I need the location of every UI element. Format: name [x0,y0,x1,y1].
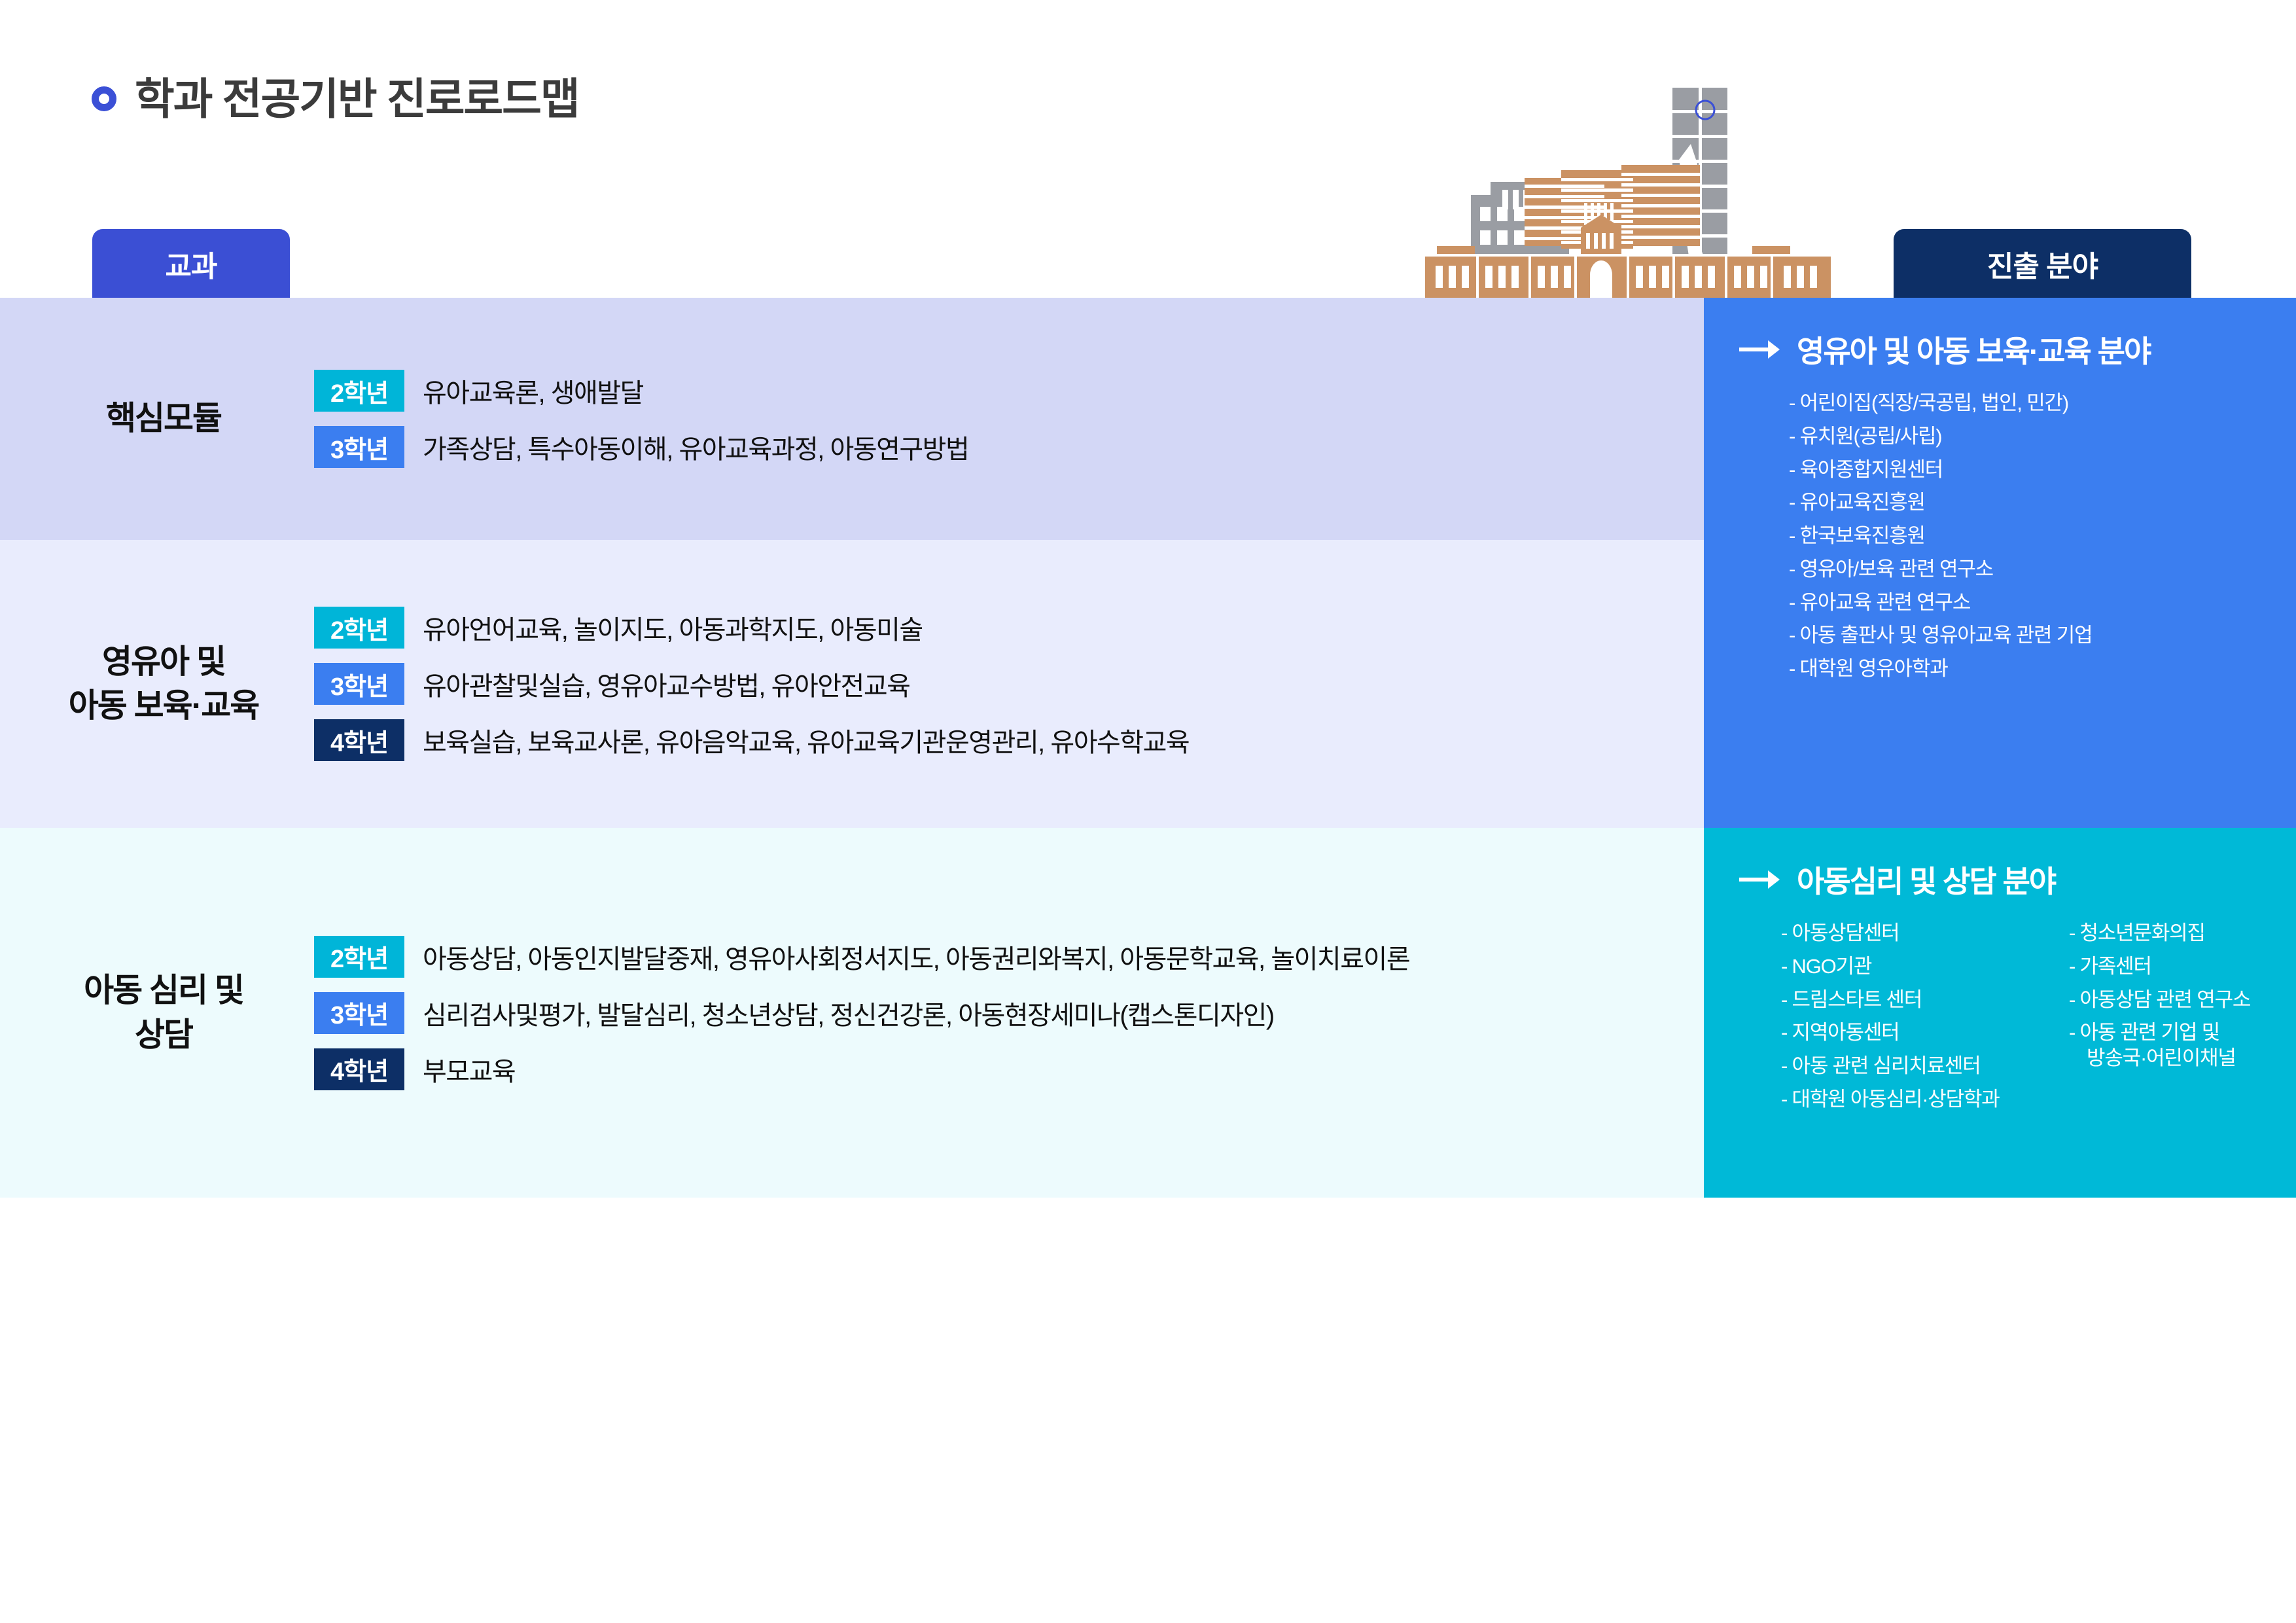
career-item: - 유아교육 관련 연구소 [1789,590,2296,616]
year-badge[interactable]: 2학년 [314,936,404,978]
curriculum-row: 영유아 및 아동 보육·교육 2학년 유아언어교육, 놀이지도, 아동과학지도,… [0,540,1701,828]
year-badge[interactable]: 3학년 [314,663,404,705]
course-line: 3학년 유아관찰및실습, 영유아교수방법, 유아안전교육 [314,663,1701,705]
row-label: 영유아 및 아동 보육·교육 [13,640,314,728]
career-panel-title: 아동심리 및 상담 분야 [1797,858,2055,901]
row-label-line: 아동 보육·교육 [13,684,314,728]
course-text: 아동상담, 아동인지발달중재, 영유아사회정서지도, 아동권리와복지, 아동문학… [423,938,1409,976]
course-line: 3학년 가족상담, 특수아동이해, 유아교육과정, 아동연구방법 [314,426,1701,468]
tab-curriculum-label: 교과 [166,243,217,285]
course-line: 2학년 아동상담, 아동인지발달중재, 영유아사회정서지도, 아동권리와복지, … [314,936,1701,978]
row-label-line: 아동 심리 및 [13,969,314,1013]
course-line-list: 2학년 유아교육론, 생애발달 3학년 가족상담, 특수아동이해, 유아교육과정… [314,370,1701,468]
career-item: - 육아종합지원센터 [1789,457,2296,483]
course-text: 심리검사및평가, 발달심리, 청소년상담, 정신건강론, 아동현장세미나(캡스톤… [423,994,1274,1032]
arrow-right-icon [1739,338,1780,361]
curriculum-row: 핵심모듈 2학년 유아교육론, 생애발달 3학년 가족상담, 특수아동이해, 유… [0,298,1701,540]
campus-skyline-illustration [1425,79,1831,308]
career-item: - 아동 관련 기업 및 방송국·어린이채널 [2069,1020,2250,1071]
tab-career[interactable]: 진출 분야 [1894,229,2191,298]
course-text: 가족상담, 특수아동이해, 유아교육과정, 아동연구방법 [423,428,968,466]
row-label-line: 영유아 및 [13,640,314,685]
course-line-list: 2학년 유아언어교육, 놀이지도, 아동과학지도, 아동미술 3학년 유아관찰및… [314,607,1701,761]
career-item: - 아동 관련 심리치료센터 [1781,1054,2069,1079]
career-item: - 유아교육진흥원 [1789,490,2296,516]
year-badge[interactable]: 3학년 [314,992,404,1034]
year-badge[interactable]: 2학년 [314,370,404,412]
career-panel-childcare-education: 영유아 및 아동 보육·교육 분야 - 어린이집(직장/국공립, 법인, 민간)… [1704,298,2296,828]
career-panel-child-psychology-counseling: 아동심리 및 상담 분야 - 아동상담센터 - NGO기관 - 드림스타트 센터… [1704,828,2296,1198]
career-panel-title: 영유아 및 아동 보육·교육 분야 [1797,328,2150,371]
course-text: 유아관찰및실습, 영유아교수방법, 유아안전교육 [423,665,910,703]
roadmap-page: 학과 전공기반 진로로드맵 [0,0,2296,1623]
career-item: - 청소년문화의집 [2069,921,2250,946]
course-text: 유아교육론, 생애발달 [423,372,643,410]
year-badge[interactable]: 4학년 [314,719,404,761]
career-item: - 아동상담 관련 연구소 [2069,988,2250,1013]
row-label: 핵심모듈 [13,397,314,441]
career-item-list: - 아동상담센터 - NGO기관 - 드림스타트 센터 - 지역아동센터 - 아… [1704,921,2296,1113]
course-text: 부모교육 [423,1050,515,1088]
career-item: - NGO기관 [1781,954,2069,980]
career-item: - 어린이집(직장/국공립, 법인, 민간) [1789,391,2296,416]
career-item: - 아동상담센터 [1781,921,2069,946]
career-item-list: - 어린이집(직장/국공립, 법인, 민간) - 유치원(공립/사립) - 육아… [1704,391,2296,682]
career-item: - 영유아/보육 관련 연구소 [1789,557,2296,582]
career-panel-header: 영유아 및 아동 보육·교육 분야 [1704,328,2296,371]
career-item: - 지역아동센터 [1781,1020,2069,1046]
tab-career-label: 진출 분야 [1987,243,2098,285]
course-line-list: 2학년 아동상담, 아동인지발달중재, 영유아사회정서지도, 아동권리와복지, … [314,936,1701,1090]
course-line: 2학년 유아언어교육, 놀이지도, 아동과학지도, 아동미술 [314,607,1701,649]
curriculum-row: 아동 심리 및 상담 2학년 아동상담, 아동인지발달중재, 영유아사회정서지도… [0,828,1701,1198]
career-panel-header: 아동심리 및 상담 분야 [1704,858,2296,901]
tab-curriculum[interactable]: 교과 [92,229,290,298]
course-line: 4학년 보육실습, 보육교사론, 유아음악교육, 유아교육기관운영관리, 유아수… [314,719,1701,761]
course-line: 3학년 심리검사및평가, 발달심리, 청소년상담, 정신건강론, 아동현장세미나… [314,992,1701,1034]
course-line: 2학년 유아교육론, 생애발달 [314,370,1701,412]
circle-bullet-icon [92,86,116,111]
career-column-left: - 아동상담센터 - NGO기관 - 드림스타트 센터 - 지역아동센터 - 아… [1781,921,2069,1113]
career-item: - 유치원(공립/사립) [1789,424,2296,450]
career-item-continuation: 방송국·어린이채널 [2069,1046,2250,1071]
career-item: - 대학원 아동심리·상담학과 [1781,1087,2069,1113]
arrow-right-icon [1739,868,1780,891]
career-item: - 한국보육진흥원 [1789,524,2296,549]
row-label-line: 핵심모듈 [13,397,314,441]
career-item-text: - 아동 관련 기업 및 [2069,1021,2219,1044]
career-column-right: - 청소년문화의집 - 가족센터 - 아동상담 관련 연구소 - 아동 관련 기… [2069,921,2250,1113]
year-badge[interactable]: 4학년 [314,1048,404,1090]
page-title-row: 학과 전공기반 진로로드맵 [92,77,579,120]
row-label-line: 상담 [13,1013,314,1058]
career-item: - 대학원 영유아학과 [1789,656,2296,682]
year-badge[interactable]: 3학년 [314,426,404,468]
career-item: - 드림스타트 센터 [1781,988,2069,1013]
row-label: 아동 심리 및 상담 [13,969,314,1057]
career-item: - 가족센터 [2069,954,2250,980]
year-badge[interactable]: 2학년 [314,607,404,649]
course-text: 유아언어교육, 놀이지도, 아동과학지도, 아동미술 [423,609,923,647]
course-line: 4학년 부모교육 [314,1048,1701,1090]
course-text: 보육실습, 보육교사론, 유아음악교육, 유아교육기관운영관리, 유아수학교육 [423,721,1189,759]
career-item: - 아동 출판사 및 영유아교육 관련 기업 [1789,623,2296,649]
page-title: 학과 전공기반 진로로드맵 [135,77,579,120]
